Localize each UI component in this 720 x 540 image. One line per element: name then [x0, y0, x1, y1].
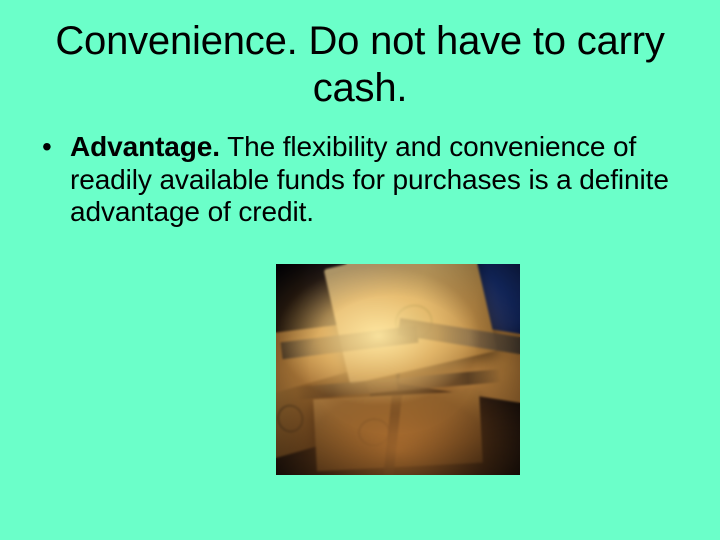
- slide-body: • Advantage. The flexibility and conveni…: [34, 131, 684, 229]
- list-item: • Advantage. The flexibility and conveni…: [34, 131, 684, 229]
- bullet-icon: •: [42, 131, 52, 164]
- presentation-slide: Convenience. Do not have to carry cash. …: [0, 0, 720, 540]
- slide-title: Convenience. Do not have to carry cash.: [30, 18, 690, 112]
- bullet-lead-label: Advantage.: [70, 131, 220, 162]
- photo-vignette: [276, 264, 520, 475]
- money-stacks-photo: [276, 264, 520, 475]
